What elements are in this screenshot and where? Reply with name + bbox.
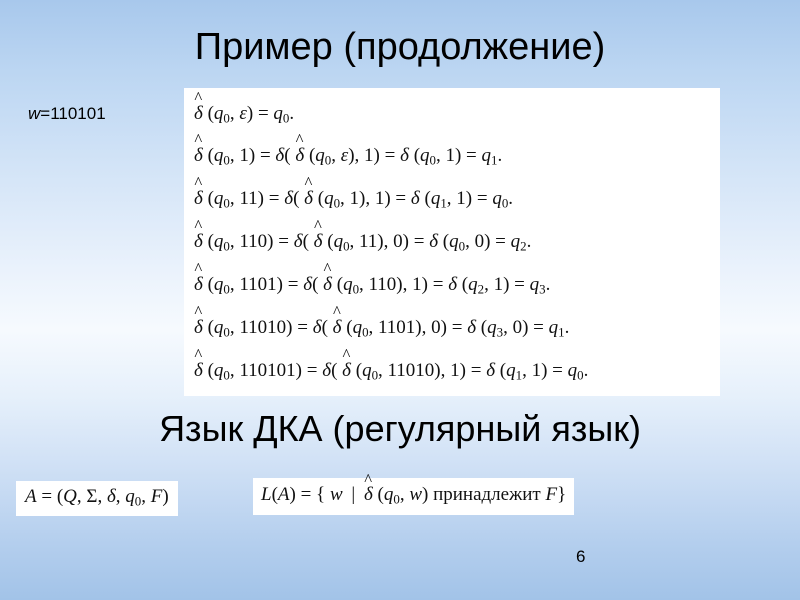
equation-row: δ (q0, ε) = q0. [194,102,294,131]
equation-row: δ (q0, 1) = δ( δ (q0, ε), 1) = δ (q0, 1)… [194,144,502,173]
equation-row: δ (q0, 110101) = δ( δ (q0, 11010), 1) = … [194,359,588,388]
page-number: 6 [576,547,585,567]
language-definition-formula: L(A) = { w | δ (q0, w) принадлежит F} [253,478,574,515]
derivation-formula-box: δ (q0, ε) = q0. δ (q0, 1) = δ( δ (q0, ε)… [184,88,720,396]
word-variable: w [28,104,40,123]
slide-canvas: Пример (продолжение) w=110101 δ (q0, ε) … [0,0,800,600]
word-value: =110101 [40,104,105,123]
equation-row: δ (q0, 110) = δ( δ (q0, 11), 0) = δ (q0,… [194,230,531,259]
membership-word: принадлежит [433,484,541,505]
section-subtitle: Язык ДКА (регулярный язык) [0,407,800,451]
page-title: Пример (продолжение) [0,24,800,70]
word-label: w=110101 [28,104,106,124]
equation-row: δ (q0, 1101) = δ( δ (q0, 110), 1) = δ (q… [194,273,550,302]
automaton-definition-formula: A = (Q, Σ, δ, q0, F) [16,481,178,516]
equation-row: δ (q0, 11010) = δ( δ (q0, 1101), 0) = δ … [194,316,569,345]
equation-row: δ (q0, 11) = δ( δ (q0, 1), 1) = δ (q1, 1… [194,187,513,216]
